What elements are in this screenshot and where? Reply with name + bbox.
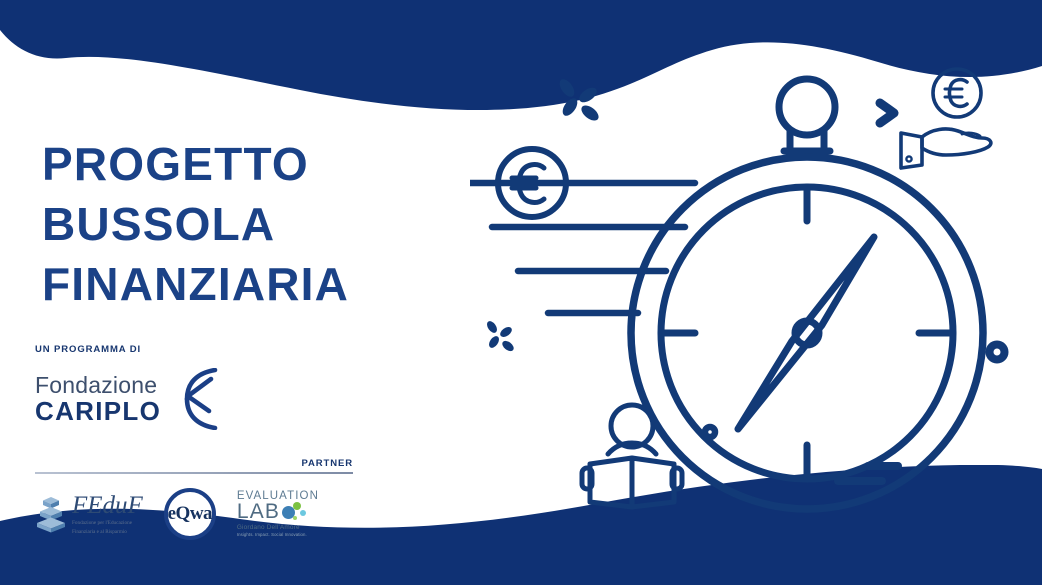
presentation-slide: PROGETTO BUSSOLA FINANZIARIA UN PROGRAMM… [0, 0, 1042, 585]
funder-block: UN PROGRAMMA DI Fondazione CARIPLO [35, 344, 375, 430]
dot-ring-icon [990, 345, 1005, 360]
partner-logo-feduf: FEduF Fondazione per l'Educazione Finanz… [35, 493, 143, 535]
partner-logo-list: FEduF Fondazione per l'Educazione Finanz… [35, 488, 353, 540]
eqwa-name: eQwa [168, 503, 212, 525]
person-reading-book-icon [582, 405, 682, 507]
programma-label: UN PROGRAMMA DI [35, 344, 375, 355]
title-line-1: PROGETTO [42, 134, 472, 194]
page-title: PROGETTO BUSSOLA FINANZIARIA [42, 134, 472, 314]
cariplo-arrow-mark-icon [175, 368, 221, 430]
sparkle-flower-small-icon [485, 319, 516, 353]
partner-divider [35, 472, 353, 474]
cariplo-line-1: Fondazione [35, 374, 161, 397]
feduf-wordmark: FEduF Fondazione per l'Educazione Finanz… [72, 493, 143, 535]
sparkle-flower-icon [557, 77, 602, 124]
partner-label: PARTNER [35, 458, 353, 469]
partner-logo-evaluation-lab: EVALUATION LAB Giordano Dell'Amore Insig… [237, 491, 319, 538]
evaluation-lab-line-3: Giordano Dell'Amore [237, 525, 319, 531]
partner-logo-eqwa: eQwa [164, 488, 216, 540]
feduf-name: FEduF [72, 493, 143, 518]
feduf-subtitle-1: Fondazione per l'Educazione [72, 520, 143, 527]
financial-compass-illustration [470, 55, 1042, 525]
evaluation-lab-line-2: LAB [237, 502, 280, 522]
evaluation-lab-line-2-row: LAB [237, 502, 319, 522]
title-line-3: FINANZIARIA [42, 254, 472, 314]
chevron-right-icon [880, 103, 894, 123]
dot-ring-small-icon [705, 427, 715, 437]
feduf-subtitle-2: Finanziaria e al Risparmio [72, 529, 143, 536]
title-line-2: BUSSOLA [42, 194, 472, 254]
cariplo-wordmark: Fondazione CARIPLO [35, 374, 161, 424]
compass-icon [631, 79, 983, 509]
feduf-stacked-blocks-icon [35, 494, 67, 534]
cariplo-line-2: CARIPLO [35, 398, 161, 424]
hand-holding-euro-coin-icon [901, 69, 991, 168]
cariplo-logo: Fondazione CARIPLO [35, 368, 375, 430]
evaluation-lab-line-4: Insights. Impact. Social Innovation. [237, 533, 319, 537]
partner-block: PARTNER FEduF Fondazione per [35, 458, 353, 540]
evaluation-lab-dots-icon [281, 502, 307, 522]
